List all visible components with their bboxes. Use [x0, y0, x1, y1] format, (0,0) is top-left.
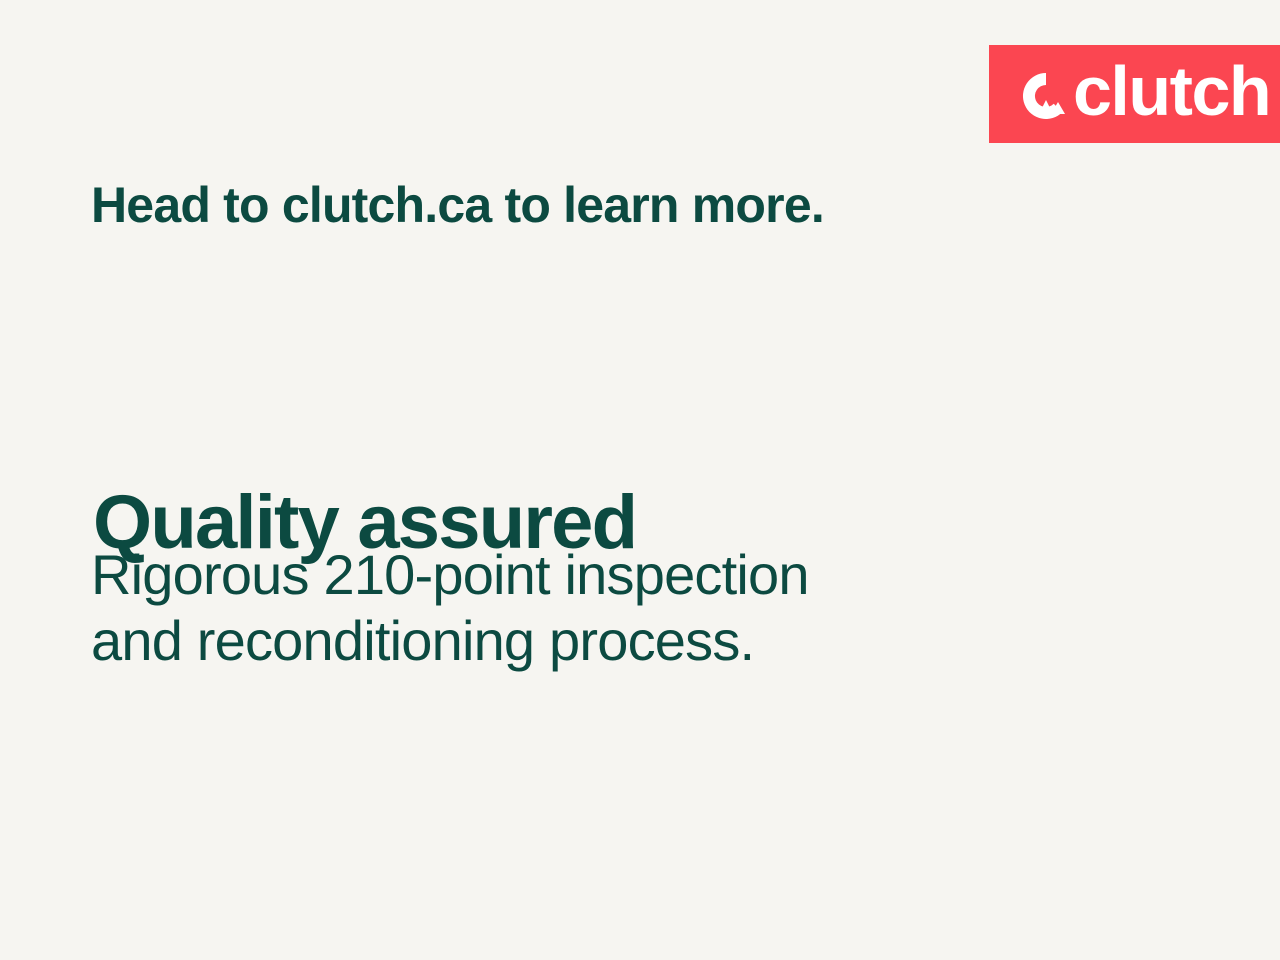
eyebrow-text: Head to clutch.ca to learn more.: [91, 178, 824, 233]
brand-banner: clutch: [989, 45, 1280, 143]
subcopy-line-2: and reconditioning process.: [91, 608, 809, 674]
clutch-c-mark-icon: [1021, 71, 1071, 121]
clutch-wordmark: clutch: [1073, 56, 1270, 126]
subcopy-line-1: Rigorous 210-point inspection: [91, 542, 809, 608]
marketing-slide: clutch Head to clutch.ca to learn more. …: [0, 0, 1280, 960]
clutch-logo-lockup: clutch: [1021, 59, 1270, 129]
subcopy-block: Rigorous 210-point inspection and recond…: [91, 542, 809, 673]
